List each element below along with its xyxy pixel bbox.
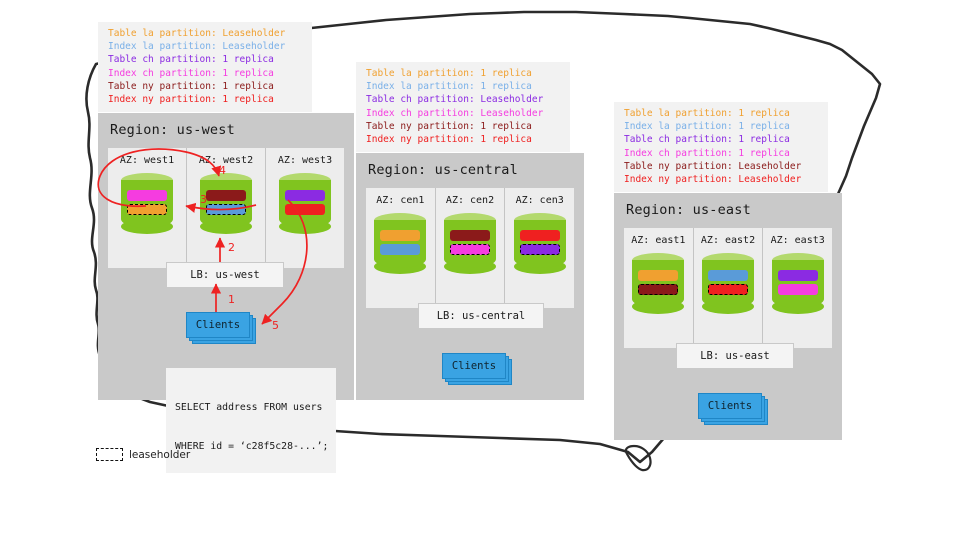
az-east1[interactable]: AZ: east1 [624,228,694,348]
az-label: AZ: cen1 [376,195,424,206]
legend-row: Index ny partition: 1 replica [366,133,562,146]
az-east2[interactable]: AZ: east2 [694,228,764,348]
replica-bar [285,190,325,201]
replica-bars [778,270,818,298]
legend-us-east: Table la partition: 1 replicaIndex la pa… [614,102,828,192]
legend-row: Table ny partition: Leaseholder [624,160,820,173]
node-cylinder[interactable] [772,253,824,315]
replica-bar [380,230,420,241]
leaseholder-key: leaseholder [96,448,190,461]
replica-bars [520,230,560,258]
az-label: AZ: cen3 [516,195,564,206]
replica-bar [778,270,818,281]
replica-bar [638,270,678,281]
legend-row: Table ch partition: 1 replica [624,133,820,146]
az-strip: AZ: cen1 AZ: cen2 AZ: cen3 [366,188,574,308]
az-label: AZ: west1 [120,155,174,166]
legend-row: Index ny partition: 1 replica [108,93,304,106]
az-east3[interactable]: AZ: east3 [763,228,832,348]
az-cen2[interactable]: AZ: cen2 [436,188,506,308]
leaseholder-swatch-icon [96,448,123,461]
az-west1[interactable]: AZ: west1 [108,148,187,268]
az-cen1[interactable]: AZ: cen1 [366,188,436,308]
replica-bar [127,190,167,201]
clients-us-east[interactable]: Clients [698,393,762,419]
replica-bars [206,190,246,218]
clients-us-central[interactable]: Clients [442,353,506,379]
node-cylinder[interactable] [444,213,496,275]
clients-label: Clients [186,312,250,338]
replica-bars [708,270,748,298]
az-west3[interactable]: AZ: west3 [266,148,344,268]
sql-line-1: SELECT address FROM users [175,401,327,414]
legend-row: Index la partition: 1 replica [624,120,820,133]
legend-row: Table la partition: 1 replica [624,107,820,120]
replica-bar-leaseholder [520,244,560,255]
replica-bars [380,230,420,258]
region-us-west: Region: us-west AZ: west1 AZ: west2 AZ: … [98,113,354,400]
load-balancer-us-east[interactable]: LB: us-east [676,343,794,369]
clients-us-west[interactable]: Clients [186,312,250,338]
legend-row: Index ch partition: Leaseholder [366,107,562,120]
clients-label: Clients [442,353,506,379]
legend-us-central: Table la partition: 1 replicaIndex la pa… [356,62,570,152]
region-title: Region: us-central [356,153,584,178]
replica-bar [708,270,748,281]
legend-row: Table ch partition: Leaseholder [366,93,562,106]
node-cylinder[interactable] [702,253,754,315]
node-cylinder[interactable] [279,173,331,235]
replica-bar [778,284,818,295]
az-strip: AZ: west1 AZ: west2 AZ: west3 [108,148,344,268]
legend-row: Table ch partition: 1 replica [108,53,304,66]
sql-line-2: WHERE id = ‘c28f5c28-...’; [175,440,327,453]
az-label: AZ: cen2 [446,195,494,206]
replica-bar-leaseholder [127,204,167,215]
az-cen3[interactable]: AZ: cen3 [505,188,574,308]
replica-bar [380,244,420,255]
az-label: AZ: east2 [701,235,755,246]
replica-bar-leaseholder [450,244,490,255]
replica-bars [450,230,490,258]
az-label: AZ: east1 [631,235,685,246]
replica-bar [206,190,246,201]
legend-row: Index ch partition: 1 replica [624,147,820,160]
replica-bars [127,190,167,218]
leaseholder-key-label: leaseholder [129,449,190,461]
load-balancer-us-central[interactable]: LB: us-central [418,303,544,329]
replica-bar-leaseholder [206,204,246,215]
legend-us-west: Table la partition: LeaseholderIndex la … [98,22,312,112]
legend-row: Table ny partition: 1 replica [366,120,562,133]
az-west2[interactable]: AZ: west2 [187,148,266,268]
node-cylinder[interactable] [374,213,426,275]
replica-bar [520,230,560,241]
az-label: AZ: west2 [199,155,253,166]
legend-row: Table ny partition: 1 replica [108,80,304,93]
node-cylinder[interactable] [200,173,252,235]
replica-bar-leaseholder [638,284,678,295]
sql-query-box: SELECT address FROM users WHERE id = ‘c2… [166,368,336,473]
legend-row: Index la partition: Leaseholder [108,40,304,53]
node-cylinder[interactable] [514,213,566,275]
node-cylinder[interactable] [632,253,684,315]
legend-row: Index ch partition: 1 replica [108,67,304,80]
az-strip: AZ: east1 AZ: east2 AZ: east3 [624,228,832,348]
legend-row: Index ny partition: Leaseholder [624,173,820,186]
replica-bar [285,204,325,215]
node-cylinder[interactable] [121,173,173,235]
replica-bar-leaseholder [708,284,748,295]
region-title: Region: us-east [614,193,842,218]
legend-row: Table la partition: 1 replica [366,67,562,80]
replica-bar [450,230,490,241]
legend-row: Index la partition: 1 replica [366,80,562,93]
clients-label: Clients [698,393,762,419]
az-label: AZ: east3 [771,235,825,246]
region-title: Region: us-west [98,113,354,138]
legend-row: Table la partition: Leaseholder [108,27,304,40]
replica-bars [285,190,325,218]
replica-bars [638,270,678,298]
az-label: AZ: west3 [278,155,332,166]
load-balancer-us-west[interactable]: LB: us-west [166,262,284,288]
